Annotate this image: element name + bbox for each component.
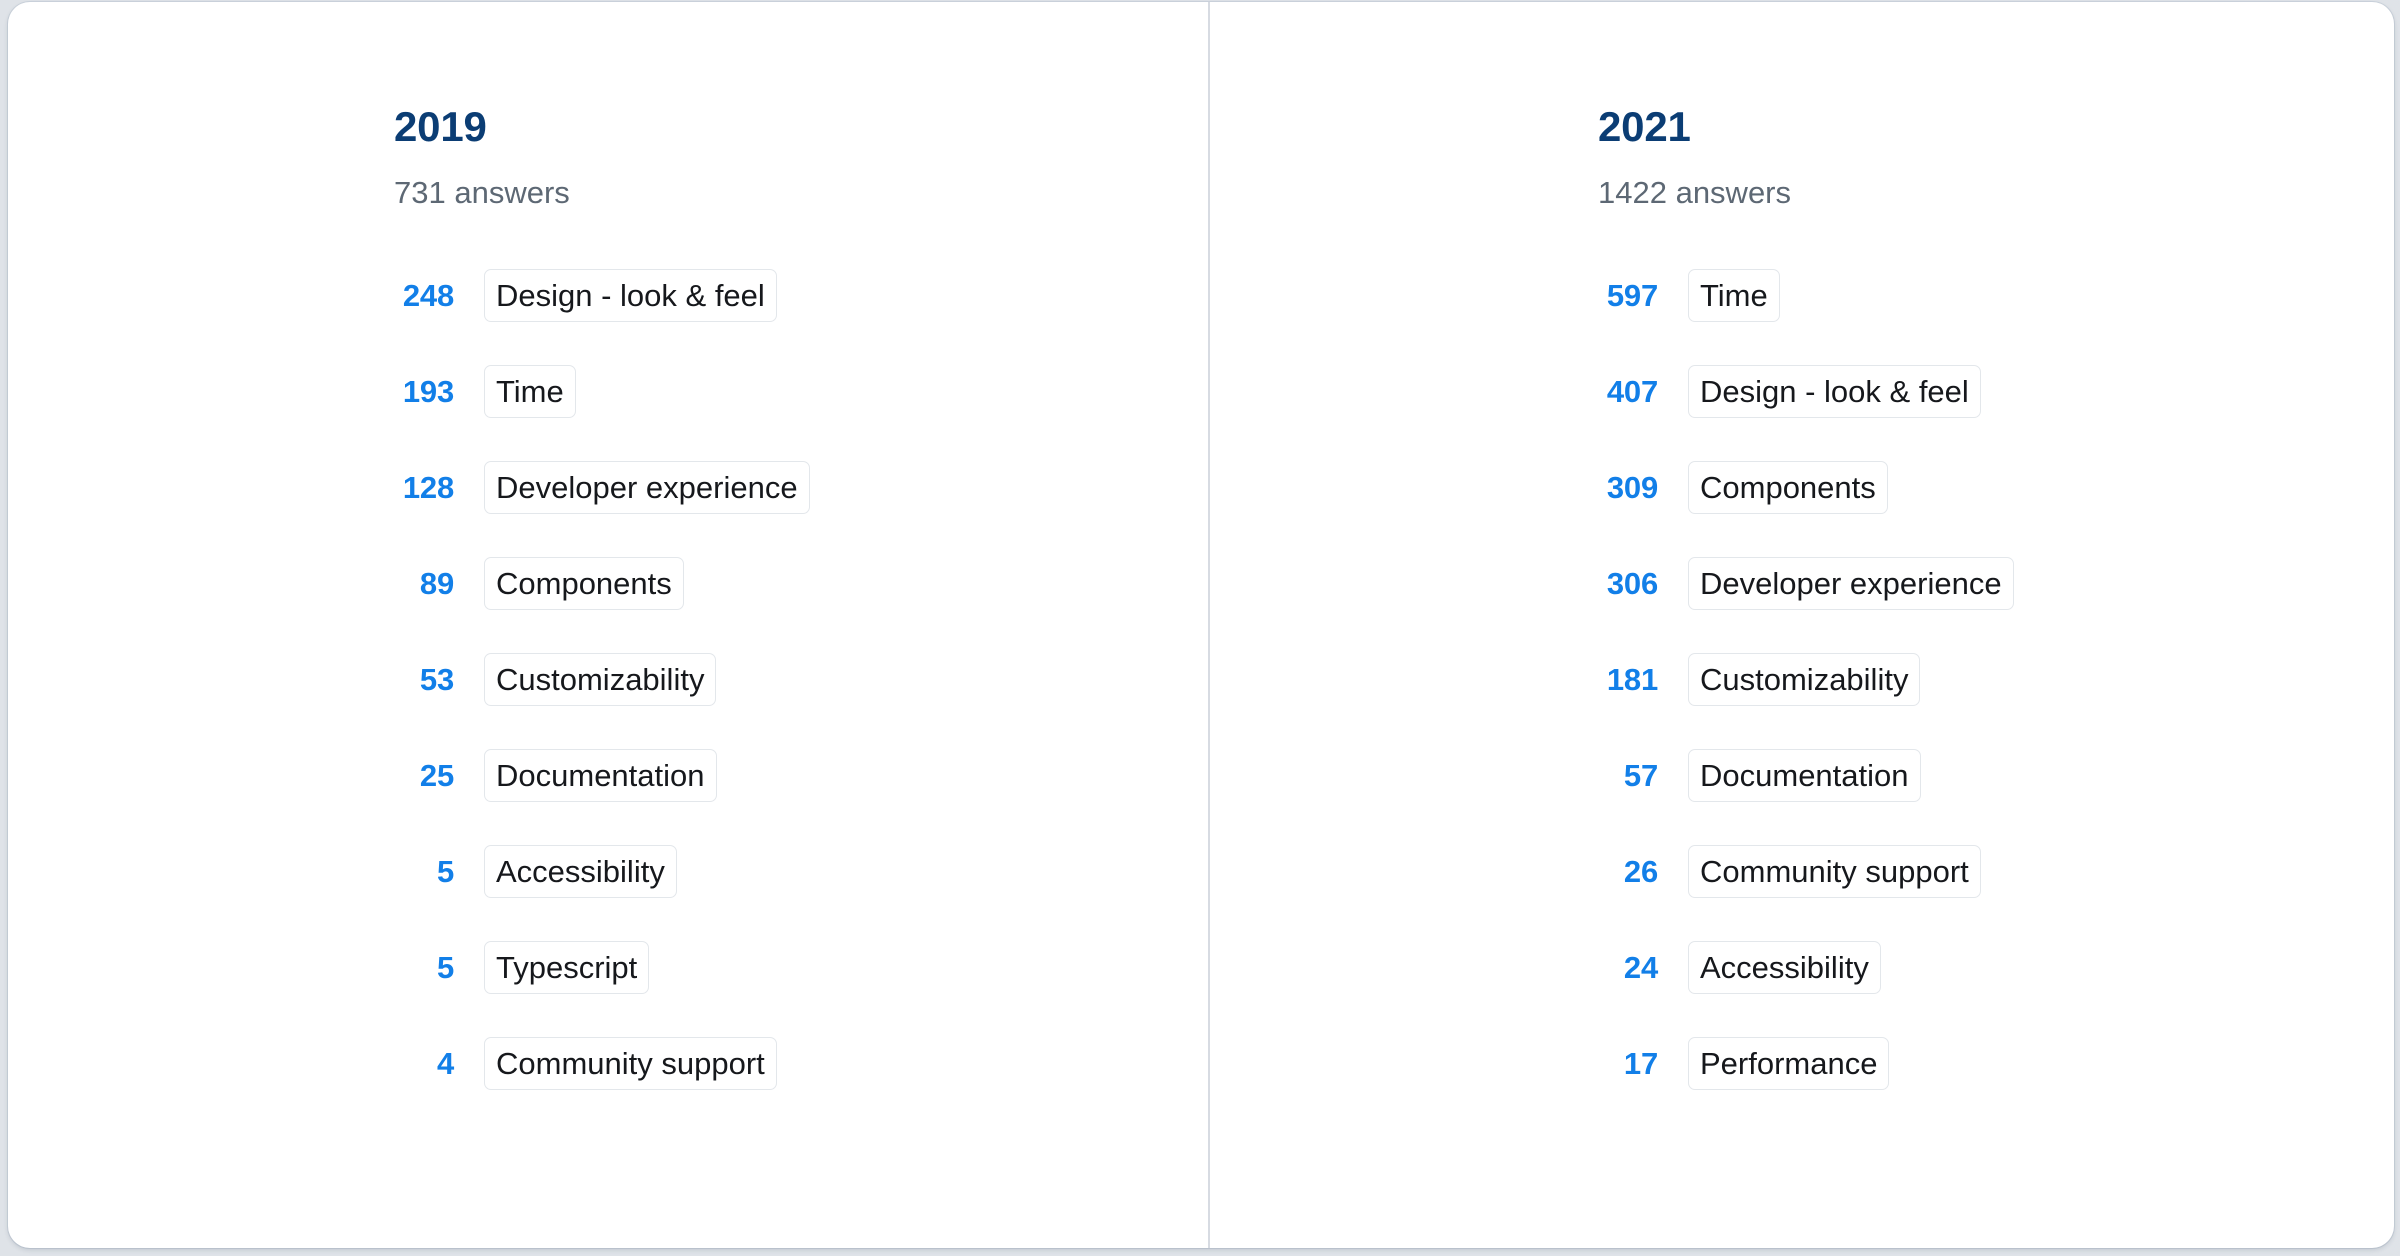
list-item[interactable]: 89 Components: [394, 535, 1208, 631]
list-item[interactable]: 181 Customizability: [1598, 631, 2394, 727]
row-count: 89: [394, 568, 454, 599]
list-item[interactable]: 128 Developer experience: [394, 439, 1208, 535]
panel-2021-rows: 597 Time 407 Design - look & feel 309 Co…: [1598, 247, 2394, 1111]
panel-2019-rows: 248 Design - look & feel 193 Time 128 De…: [394, 247, 1208, 1111]
row-count: 407: [1598, 376, 1658, 407]
panel-2021-answers-count: 1422 answers: [1598, 177, 2394, 208]
row-count: 597: [1598, 280, 1658, 311]
row-count: 26: [1598, 856, 1658, 887]
row-count: 5: [394, 856, 454, 887]
list-item[interactable]: 5 Typescript: [394, 919, 1208, 1015]
row-label-pill[interactable]: Accessibility: [1688, 941, 1881, 994]
list-item[interactable]: 193 Time: [394, 343, 1208, 439]
row-label-pill[interactable]: Design - look & feel: [484, 269, 777, 322]
row-label-pill[interactable]: Performance: [1688, 1037, 1889, 1090]
list-item[interactable]: 309 Components: [1598, 439, 2394, 535]
panel-2019-body: 2019 731 answers 248 Design - look & fee…: [8, 2, 1208, 1111]
list-item[interactable]: 597 Time: [1598, 247, 2394, 343]
list-item[interactable]: 53 Customizability: [394, 631, 1208, 727]
list-item[interactable]: 4 Community support: [394, 1015, 1208, 1111]
list-item[interactable]: 57 Documentation: [1598, 727, 2394, 823]
list-item[interactable]: 24 Accessibility: [1598, 919, 2394, 1015]
panels-container: 2019 731 answers 248 Design - look & fee…: [8, 2, 2394, 1248]
row-label-pill[interactable]: Typescript: [484, 941, 649, 994]
row-count: 17: [1598, 1048, 1658, 1079]
row-label-pill[interactable]: Time: [484, 365, 576, 418]
list-item[interactable]: 5 Accessibility: [394, 823, 1208, 919]
panel-2019: 2019 731 answers 248 Design - look & fee…: [8, 2, 1208, 1248]
list-item[interactable]: 248 Design - look & feel: [394, 247, 1208, 343]
row-label-pill[interactable]: Community support: [484, 1037, 777, 1090]
row-label-pill[interactable]: Time: [1688, 269, 1780, 322]
row-label-pill[interactable]: Components: [484, 557, 684, 610]
row-count: 25: [394, 760, 454, 791]
panel-2021-year-heading: 2021: [1598, 106, 2394, 148]
row-label-pill[interactable]: Developer experience: [484, 461, 810, 514]
row-count: 193: [394, 376, 454, 407]
list-item[interactable]: 306 Developer experience: [1598, 535, 2394, 631]
row-label-pill[interactable]: Developer experience: [1688, 557, 2014, 610]
row-count: 4: [394, 1048, 454, 1079]
panel-2019-answers-count: 731 answers: [394, 177, 1208, 208]
row-count: 5: [394, 952, 454, 983]
row-count: 57: [1598, 760, 1658, 791]
results-card: 2019 731 answers 248 Design - look & fee…: [8, 2, 2394, 1248]
list-item[interactable]: 17 Performance: [1598, 1015, 2394, 1111]
list-item[interactable]: 26 Community support: [1598, 823, 2394, 919]
row-count: 53: [394, 664, 454, 695]
row-label-pill[interactable]: Customizability: [1688, 653, 1920, 706]
row-label-pill[interactable]: Design - look & feel: [1688, 365, 1981, 418]
row-count: 306: [1598, 568, 1658, 599]
list-item[interactable]: 25 Documentation: [394, 727, 1208, 823]
row-count: 248: [394, 280, 454, 311]
row-label-pill[interactable]: Components: [1688, 461, 1888, 514]
row-count: 128: [394, 472, 454, 503]
row-label-pill[interactable]: Documentation: [484, 749, 717, 802]
row-label-pill[interactable]: Documentation: [1688, 749, 1921, 802]
panel-2021-body: 2021 1422 answers 597 Time 407 Design - …: [1208, 2, 2394, 1111]
row-label-pill[interactable]: Customizability: [484, 653, 716, 706]
row-label-pill[interactable]: Community support: [1688, 845, 1981, 898]
panel-2019-year-heading: 2019: [394, 106, 1208, 148]
panel-2021: 2021 1422 answers 597 Time 407 Design - …: [1208, 2, 2394, 1248]
row-count: 309: [1598, 472, 1658, 503]
row-count: 24: [1598, 952, 1658, 983]
list-item[interactable]: 407 Design - look & feel: [1598, 343, 2394, 439]
row-label-pill[interactable]: Accessibility: [484, 845, 677, 898]
row-count: 181: [1598, 664, 1658, 695]
